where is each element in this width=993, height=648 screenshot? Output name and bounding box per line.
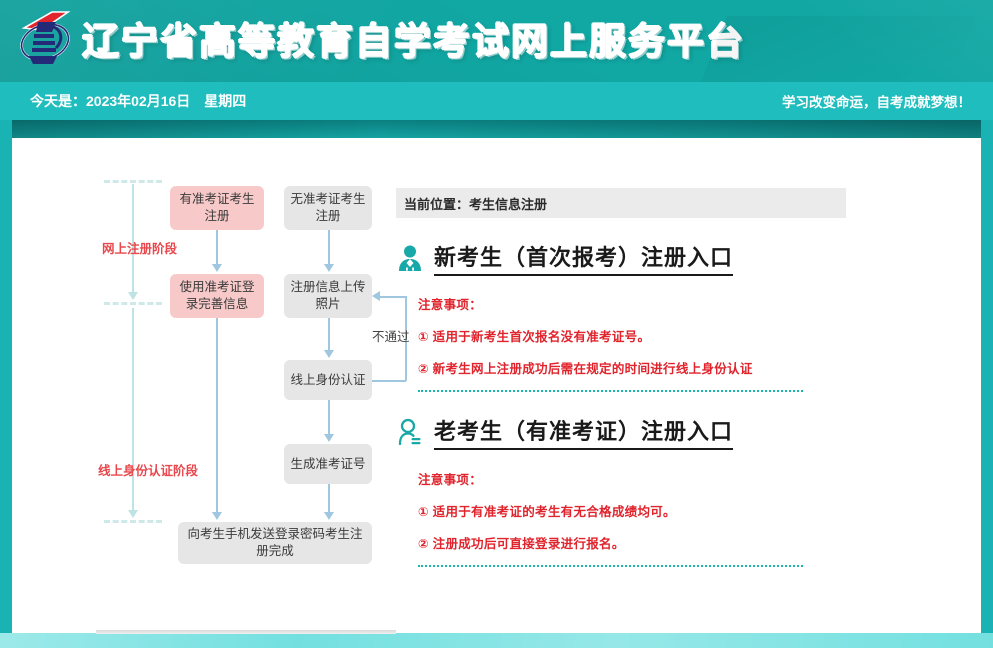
- entry-new-candidate: 新考生（首次报考）注册入口 注意事项： ① 适用于新考生首次报名没有准考证号。 …: [396, 240, 866, 392]
- entry-new-candidate-head: 新考生（首次报考）注册入口: [396, 240, 866, 276]
- stage-rail-2-arrow: [128, 510, 138, 518]
- flow-connector-grey-3: [328, 400, 330, 438]
- flow-arrow-pink-2: [212, 512, 222, 520]
- entry-old-candidate-divider: [418, 565, 803, 567]
- flow-connector-pink-1: [216, 230, 218, 268]
- flow-connector-grey-1: [328, 230, 330, 268]
- frame-left-border: [0, 120, 12, 648]
- stage-divider-top: [104, 180, 162, 183]
- page-root: 辽宁省高等教育自学考试网上服务平台 今天是：2023年02月16日 星期四 学习…: [0, 0, 993, 648]
- stage-label-identity-verification: 线上身份认证阶段: [98, 460, 198, 479]
- notice-item-1: ① 适用于有准考证的考生有无合格成绩均可。: [418, 501, 866, 520]
- stage-divider-middle: [104, 302, 162, 305]
- slogan-text: 学习改变命运，自考成就梦想！: [782, 91, 971, 111]
- stage-rail-1-arrow: [128, 292, 138, 300]
- flow-box-register-info-upload-photo: 注册信息上传照片: [284, 274, 372, 318]
- stage-label-online-registration: 网上注册阶段: [102, 238, 177, 257]
- notice-item-1: ① 适用于新考生首次报名没有准考证号。: [418, 326, 866, 345]
- stage-divider-bottom: [104, 520, 162, 523]
- entry-old-candidate-link[interactable]: 老考生（有准考证）注册入口: [434, 414, 733, 450]
- frame-bottom-border: [0, 633, 993, 648]
- flowchart-baseline-rule: [96, 630, 396, 634]
- today-date-text: 今天是：2023年02月16日 星期四: [30, 91, 246, 111]
- flow-box-login-complete-info: 使用准考证登录完善信息: [170, 274, 264, 318]
- registration-flowchart: 网上注册阶段 线上身份认证阶段 有准考证考生注册 使用准考证登录完善信息 无准考…: [96, 178, 396, 608]
- entry-new-candidate-divider: [418, 390, 803, 392]
- entry-old-candidate: 老考生（有准考证）注册入口 注意事项： ① 适用于有准考证的考生有无合格成绩均可…: [396, 414, 866, 567]
- right-panel: 当前位置：考生信息注册 新考生（首次报考）注册入口: [396, 188, 866, 567]
- notice-item-2: ② 注册成功后可直接登录进行报名。: [418, 533, 866, 552]
- flow-connector-pink-2: [216, 318, 218, 518]
- site-title: 辽宁省高等教育自学考试网上服务平台: [82, 11, 745, 65]
- new-candidate-icon: [396, 243, 424, 273]
- flow-arrow-pink-1: [212, 264, 222, 272]
- notice-item-2: ② 新考生网上注册成功后需在规定的时间进行线上身份认证: [418, 358, 866, 377]
- flow-arrow-grey-1: [324, 264, 334, 272]
- site-masthead: 辽宁省高等教育自学考试网上服务平台: [0, 0, 993, 82]
- flow-arrow-grey-2: [324, 350, 334, 358]
- flow-connector-grey-2: [328, 318, 330, 354]
- frame-right-border: [981, 120, 993, 648]
- flow-box-online-identity-verification: 线上身份认证: [284, 360, 372, 400]
- notice-label: 注意事项：: [418, 294, 866, 313]
- notice-label: 注意事项：: [418, 469, 866, 488]
- flow-box-send-password-complete: 向考生手机发送登录密码考生注册完成: [178, 522, 372, 564]
- date-bar: 今天是：2023年02月16日 星期四 学习改变命运，自考成就梦想！: [0, 82, 993, 120]
- flow-arrow-grey-3: [324, 434, 334, 442]
- stage-rail-2: [132, 308, 134, 512]
- flow-arrow-grey-4: [324, 512, 334, 520]
- entry-new-candidate-link[interactable]: 新考生（首次报考）注册入口: [434, 240, 733, 276]
- flow-loop-arrow: [372, 291, 380, 301]
- main-content: 网上注册阶段 线上身份认证阶段 有准考证考生注册 使用准考证登录完善信息 无准考…: [12, 138, 981, 633]
- breadcrumb: 当前位置：考生信息注册: [396, 188, 846, 218]
- liaoning-self-study-exam-logo-icon: [12, 6, 78, 70]
- flow-box-register-without-ticket: 无准考证考生注册: [284, 186, 372, 230]
- flow-box-register-with-ticket: 有准考证考生注册: [170, 186, 264, 230]
- entry-new-candidate-notes: 注意事项： ① 适用于新考生首次报名没有准考证号。 ② 新考生网上注册成功后需在…: [418, 294, 866, 392]
- old-candidate-icon: [396, 417, 424, 447]
- entry-old-candidate-notes: 注意事项： ① 适用于有准考证的考生有无合格成绩均可。 ② 注册成功后可直接登录…: [418, 469, 866, 567]
- header-shadow-band: [0, 120, 993, 138]
- entry-old-candidate-head: 老考生（有准考证）注册入口: [396, 414, 866, 450]
- flow-box-generate-ticket-number: 生成准考证号: [284, 444, 372, 484]
